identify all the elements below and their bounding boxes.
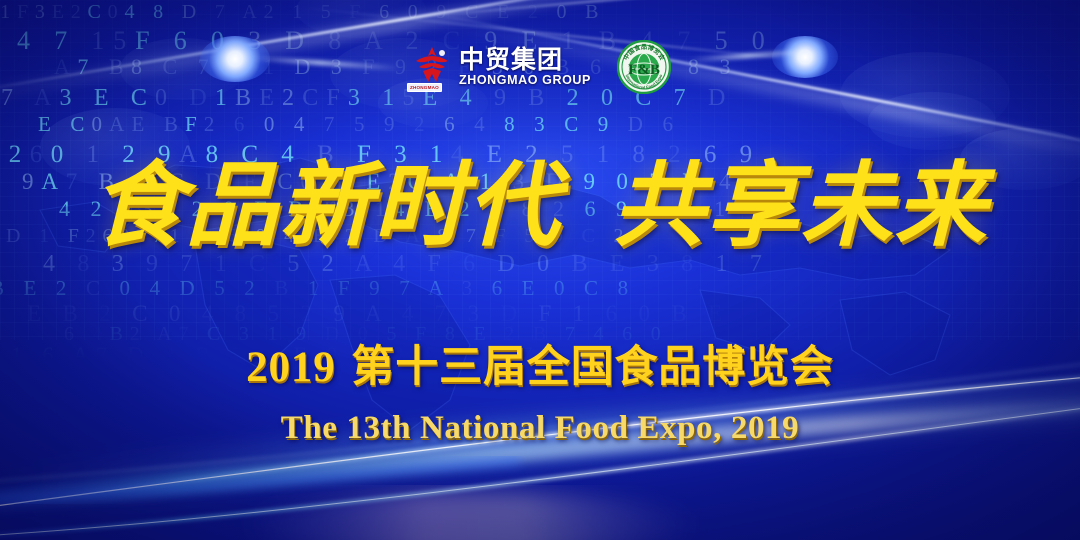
decorative-oval xyxy=(296,0,426,38)
zhongmao-mark-icon: ZHONGMAO xyxy=(409,44,455,90)
decorative-oval xyxy=(868,92,996,150)
zhongmao-english-name: ZHONGMAO GROUP xyxy=(459,74,591,87)
headline-part-1: 食品新时代 xyxy=(92,152,561,259)
subtitle-chinese: 2019 第十三届全国食品博览会 xyxy=(0,346,1080,389)
zhongmao-group-logo: ZHONGMAO 中贸集团 ZHONGMAO GROUP xyxy=(409,44,591,90)
matrix-row: E B 2 C 0 4 8 5 2 9 A 4 7 3 D F 1 6 0 B … xyxy=(27,302,730,325)
matrix-row: E C0AE BF2 6 0 4 7 5 9 2 6 4 8 3 C 9 D 6 xyxy=(38,114,680,135)
light-beam xyxy=(340,0,759,25)
page-title: 食品新时代共享未来 xyxy=(0,160,1080,252)
subtitle-year: 2019 xyxy=(246,344,335,391)
matrix-row: B1F3E2C04 8 D 7 A2 1 5 F 6 0 9 C E 2 0 B xyxy=(0,2,605,22)
zhongmao-chinese-name: 中贸集团 xyxy=(459,47,563,72)
subtitle-chinese-text: 第十三届全国食品博览会 xyxy=(351,342,833,392)
svg-text:F&B: F&B xyxy=(628,62,660,78)
zhongmao-badge-label: ZHONGMAO xyxy=(407,83,442,92)
food-expo-banner: B1F3E2C04 8 D 7 A2 1 5 F 6 0 9 C E 2 0 B… xyxy=(0,0,1080,540)
headline-part-2: 共享未来 xyxy=(613,152,988,259)
subtitle-english: The 13th National Food Expo, 2019 xyxy=(0,412,1080,445)
matrix-row: 6 4B2 A7 C 3 1 9 D 0 5 F 8 E 2 B 7 4 6 0 xyxy=(64,324,668,344)
china-food-expo-emblem-icon: F&B 中国食品博览会 International Food Expo xyxy=(617,40,671,94)
matrix-row: B E 2 C 0 4 D 5 2 B 1 F 9 7 A 3 6 E 0 C … xyxy=(0,278,635,299)
logo-row: ZHONGMAO 中贸集团 ZHONGMAO GROUP F&B 中国食品博览会 xyxy=(0,40,1080,94)
